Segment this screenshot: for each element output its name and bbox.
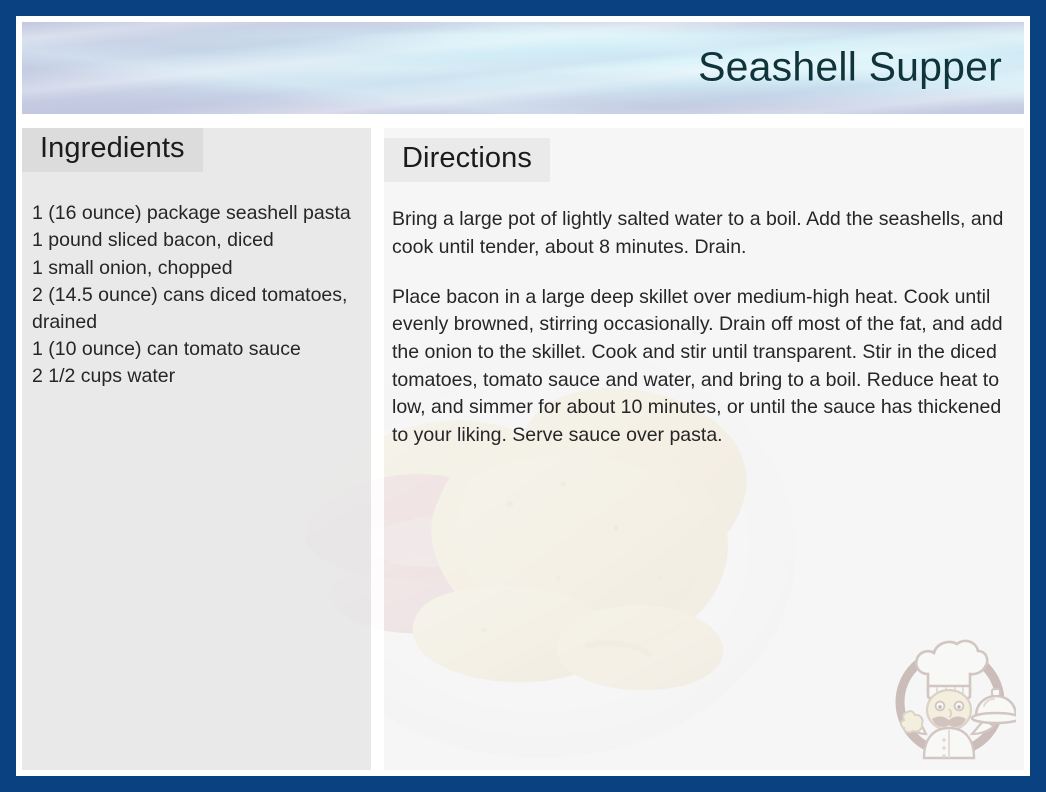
list-item: 1 (10 ounce) can tomato sauce (32, 336, 357, 363)
page-title: Seashell Supper (698, 46, 1002, 89)
ingredients-heading: Ingredients (40, 132, 185, 165)
direction-paragraph: Place bacon in a large deep skillet over… (392, 284, 1008, 450)
ingredients-tab: Ingredients (22, 128, 203, 172)
directions-panel: Directions Bring a large pot of lightly … (384, 128, 1024, 470)
list-item: 2 (14.5 ounce) cans diced tomatoes, drai… (32, 282, 357, 336)
ingredients-list: 1 (16 ounce) package seashell pasta 1 po… (22, 172, 371, 410)
directions-text: Bring a large pot of lightly salted wate… (384, 182, 1024, 470)
list-item: 2 1/2 cups water (32, 363, 357, 390)
list-item: 1 small onion, chopped (32, 255, 357, 282)
list-item: 1 (16 ounce) package seashell pasta (32, 200, 357, 227)
directions-heading: Directions (402, 142, 532, 175)
direction-paragraph: Bring a large pot of lightly salted wate… (392, 206, 1008, 261)
column-divider (371, 128, 384, 770)
recipe-slide: Seashell Supper (0, 0, 1046, 792)
ingredients-panel: Ingredients 1 (16 ounce) package seashel… (22, 128, 371, 410)
slide-inner-frame: Seashell Supper (16, 16, 1030, 776)
chef-logo-icon (884, 630, 1016, 762)
directions-tab: Directions (384, 138, 550, 182)
list-item: 1 pound sliced bacon, diced (32, 227, 357, 254)
content-area: Ingredients 1 (16 ounce) package seashel… (22, 128, 1024, 770)
title-banner: Seashell Supper (22, 22, 1024, 114)
